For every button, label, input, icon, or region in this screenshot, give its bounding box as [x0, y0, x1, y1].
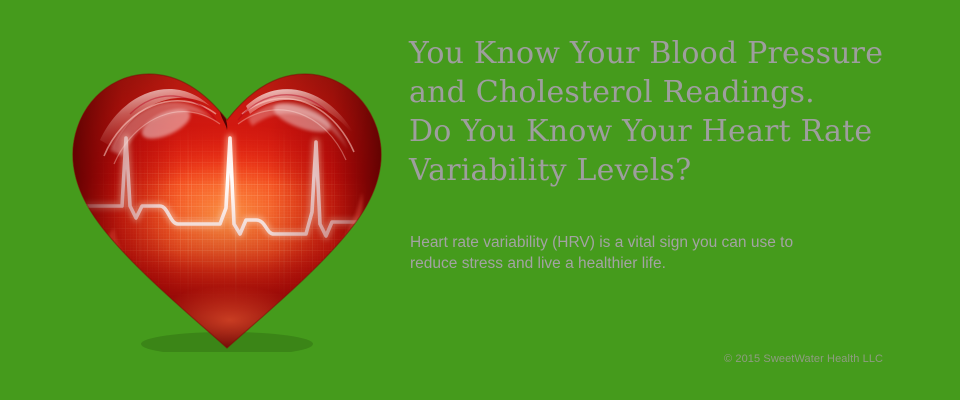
heart-ecg-illustration — [70, 52, 384, 352]
hrv-promo-banner: You Know Your Blood Pressure and Cholest… — [0, 0, 960, 400]
headline-line-3: Do You Know Your Heart Rate — [409, 112, 929, 151]
subcopy-line-2: reduce stress and live a healthier life. — [410, 253, 880, 274]
page-title: You Know Your Blood Pressure and Cholest… — [409, 34, 929, 190]
headline-line-1: You Know Your Blood Pressure — [409, 34, 929, 73]
copyright-notice: © 2015 SweetWater Health LLC — [724, 353, 883, 365]
subheading-text: Heart rate variability (HRV) is a vital … — [410, 232, 880, 274]
subcopy-line-1: Heart rate variability (HRV) is a vital … — [410, 232, 880, 253]
headline-line-4: Variability Levels? — [409, 151, 929, 190]
headline-line-2: and Cholesterol Readings. — [409, 73, 929, 112]
heart-body — [73, 74, 381, 352]
